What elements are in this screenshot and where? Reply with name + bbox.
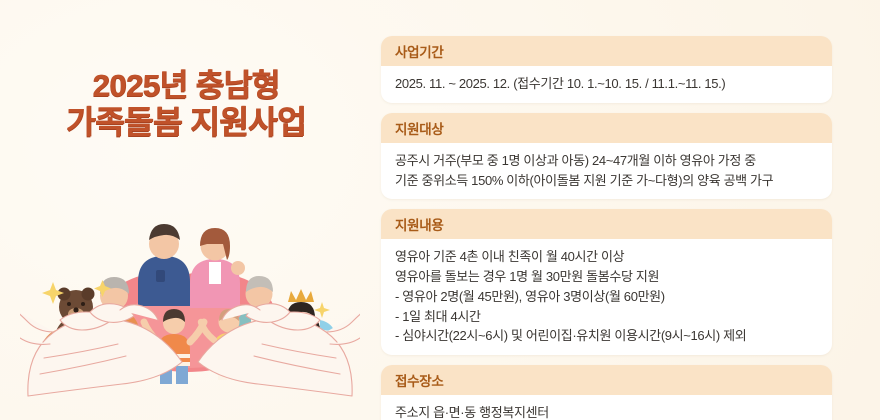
card-line: 주소지 읍·면·동 행정복지센터 [395, 403, 818, 420]
card-support-target: 지원대상 공주시 거주(부모 중 1명 이상과 아동) 24~47개월 이하 영… [381, 113, 832, 200]
figure-mother [190, 228, 245, 308]
card-project-period: 사업기간 2025. 11. ~ 2025. 12. (접수기간 10. 1.~… [381, 36, 832, 103]
card-line: - 영유아 2명(월 45만원), 영유아 3명이상(월 60만원) [395, 287, 818, 307]
family-care-illustration [20, 182, 360, 397]
left-panel: 2025년 충남형 가족돌봄 지원사업 [0, 0, 372, 420]
poster-root: 2025년 충남형 가족돌봄 지원사업 [0, 0, 880, 420]
card-line: 기준 중위소득 150% 이하(아이돌봄 지원 기준 가~다형)의 양육 공백 … [395, 171, 818, 191]
card-body-support-content: 영유아 기준 4촌 이내 친족이 월 40시간 이상 영유아를 돌보는 경우 1… [381, 239, 832, 355]
card-header-application-place: 접수장소 [381, 365, 832, 395]
card-support-content: 지원내용 영유아 기준 4촌 이내 친족이 월 40시간 이상 영유아를 돌보는… [381, 209, 832, 355]
card-line: - 심야시간(22시~6시) 및 어린이집·유치원 이용시간(9시~16시) 제… [395, 326, 818, 346]
card-body-application-place: 주소지 읍·면·동 행정복지센터 [381, 395, 832, 420]
card-line: - 1일 최대 4시간 [395, 307, 818, 327]
card-application-place: 접수장소 주소지 읍·면·동 행정복지센터 [381, 365, 832, 420]
card-header-support-target: 지원대상 [381, 113, 832, 143]
title-line-2: 가족돌봄 지원사업 [0, 104, 372, 141]
title-line-1: 2025년 충남형 [0, 68, 372, 104]
card-line: 영유아 기준 4촌 이내 친족이 월 40시간 이상 [395, 247, 818, 267]
info-card-list: 사업기간 2025. 11. ~ 2025. 12. (접수기간 10. 1.~… [381, 36, 832, 420]
illustration-svg [20, 182, 360, 397]
card-line: 공주시 거주(부모 중 1명 이상과 아동) 24~47개월 이하 영유아 가정… [395, 151, 818, 171]
card-body-support-target: 공주시 거주(부모 중 1명 이상과 아동) 24~47개월 이하 영유아 가정… [381, 143, 832, 200]
card-line: 2025. 11. ~ 2025. 12. (접수기간 10. 1.~10. 1… [395, 74, 818, 94]
card-header-support-content: 지원내용 [381, 209, 832, 239]
card-body-project-period: 2025. 11. ~ 2025. 12. (접수기간 10. 1.~10. 1… [381, 66, 832, 103]
card-header-project-period: 사업기간 [381, 36, 832, 66]
poster-title: 2025년 충남형 가족돌봄 지원사업 [0, 68, 372, 141]
figure-father [138, 224, 190, 306]
card-line: 영유아를 돌보는 경우 1명 월 30만원 돌봄수당 지원 [395, 267, 818, 287]
